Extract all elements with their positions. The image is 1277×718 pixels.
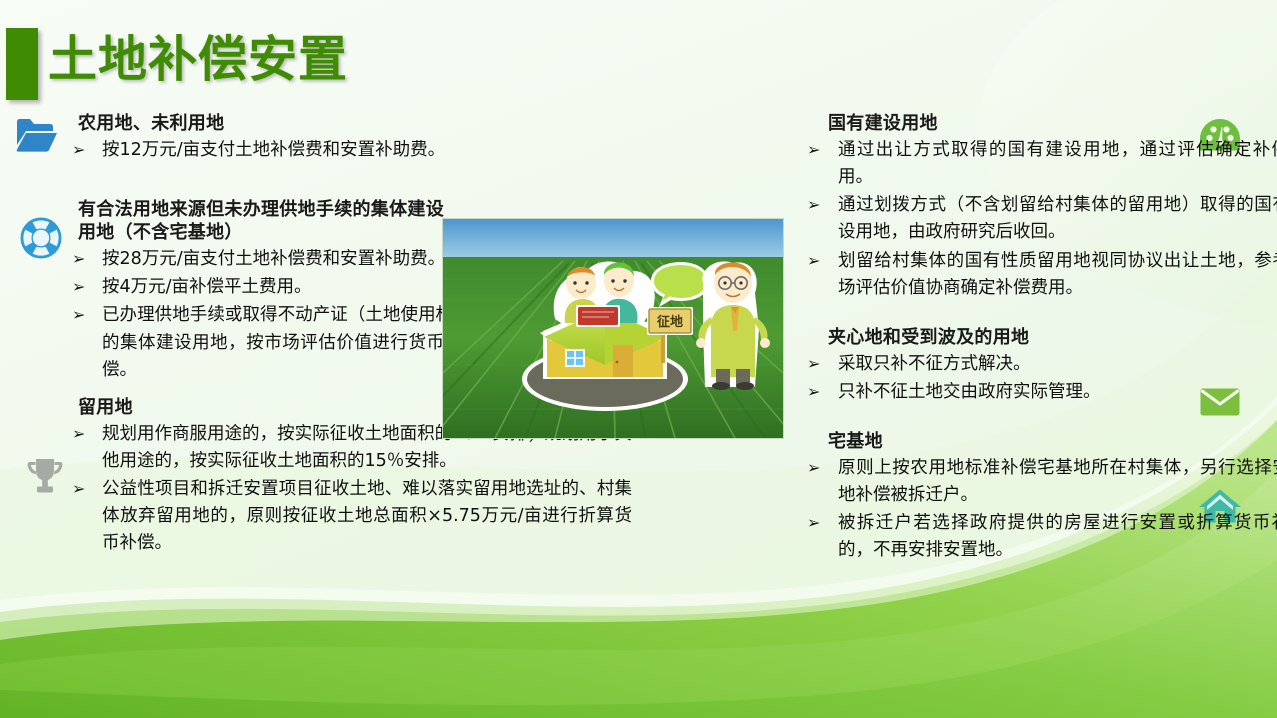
bullet-item: ➢ 按4万元/亩补偿平土费用。 bbox=[14, 274, 462, 301]
bullet-arrow-icon: ➢ bbox=[72, 138, 85, 163]
bullet-list: ➢ 采取只补不征方式解决。 ➢ 只补不征土地交由政府实际管理。 bbox=[795, 351, 1265, 406]
bullet-item: ➢ 公益性项目和拆迁安置项目征收土地、难以落实留用地选址的、村集体放弃留用地的，… bbox=[14, 476, 632, 557]
bullet-text: 已办理供地手续或取得不动产证（土地使用权）的集体建设用地，按市场评估价值进行货币… bbox=[102, 302, 462, 383]
bullet-arrow-icon: ➢ bbox=[807, 511, 820, 536]
block-enclave-land: 夹心地和受到波及的用地 ➢ 采取只补不征方式解决。 ➢ 只补不征土地交由政府实际… bbox=[795, 326, 1265, 406]
bullet-arrow-icon: ➢ bbox=[72, 247, 85, 272]
bullet-item: ➢ 按12万元/亩支付土地补偿费和安置补助费。 bbox=[14, 137, 632, 164]
bullet-text: 通过出让方式取得的国有建设用地，通过评估确定补偿费用。 bbox=[838, 137, 1277, 191]
bullet-arrow-icon: ➢ bbox=[72, 303, 85, 328]
block-reserved-land: 留用地 ➢ 规划用作商服用途的，按实际征收土地面积的10％安排；规划用于其他用途… bbox=[14, 396, 484, 558]
block-agricultural-land: 农用地、未利用地 ➢ 按12万元/亩支付土地补偿费和安置补助费。 bbox=[14, 112, 484, 164]
bullet-item: ➢ 按28万元/亩支付土地补偿费和安置补助费。 bbox=[14, 246, 462, 273]
svg-text:征地: 征地 bbox=[657, 314, 683, 330]
bullet-arrow-icon: ➢ bbox=[807, 352, 820, 377]
bullet-text: 通过划拨方式（不含划留给村集体的留用地）取得的国有建设用地，由政府研究后收回。 bbox=[838, 192, 1277, 246]
block-collective-construction-land: 有合法用地来源但未办理供地手续的集体建设用地（不含宅基地） ➢ 按28万元/亩支… bbox=[14, 198, 484, 384]
bullet-item: ➢ 原则上按农用地标准补偿宅基地所在村集体，另行选择安置地补偿被拆迁户。 bbox=[795, 455, 1277, 509]
bullet-item: ➢ 已办理供地手续或取得不动产证（土地使用权）的集体建设用地，按市场评估价值进行… bbox=[14, 302, 462, 383]
slide-canvas: 土地补偿安置 bbox=[0, 0, 1277, 718]
bullet-arrow-icon: ➢ bbox=[807, 193, 820, 218]
bullet-item: ➢ 划留给村集体的国有性质留用地视同协议出让土地，参考市场评估价值协商确定补偿费… bbox=[795, 248, 1277, 302]
block-heading: 宅基地 bbox=[795, 430, 1265, 453]
bullet-text: 按28万元/亩支付土地补偿费和安置补助费。 bbox=[102, 246, 462, 273]
page-title: 土地补偿安置 bbox=[48, 29, 348, 90]
block-heading: 留用地 bbox=[14, 396, 484, 419]
bullet-item: ➢ 采取只补不征方式解决。 bbox=[795, 351, 1277, 378]
block-state-owned-land: 国有建设用地 ➢ 通过出让方式取得的国有建设用地，通过评估确定补偿费用。 ➢ 通… bbox=[795, 112, 1265, 302]
bullet-item: ➢ 通过出让方式取得的国有建设用地，通过评估确定补偿费用。 bbox=[795, 137, 1277, 191]
block-heading: 农用地、未利用地 bbox=[14, 112, 484, 135]
bullet-list: ➢ 通过出让方式取得的国有建设用地，通过评估确定补偿费用。 ➢ 通过划拨方式（不… bbox=[795, 137, 1265, 302]
bullet-text: 原则上按农用地标准补偿宅基地所在村集体，另行选择安置地补偿被拆迁户。 bbox=[838, 455, 1277, 509]
bullet-list: ➢ 按12万元/亩支付土地补偿费和安置补助费。 bbox=[14, 137, 484, 164]
bullet-list: ➢ 按28万元/亩支付土地补偿费和安置补助费。 ➢ 按4万元/亩补偿平土费用。 … bbox=[14, 246, 484, 384]
bullet-arrow-icon: ➢ bbox=[72, 477, 85, 502]
title-accent-bar bbox=[6, 28, 38, 100]
block-homestead-land: 宅基地 ➢ 原则上按农用地标准补偿宅基地所在村集体，另行选择安置地补偿被拆迁户。… bbox=[795, 430, 1265, 565]
bullet-text: 公益性项目和拆迁安置项目征收土地、难以落实留用地选址的、村集体放弃留用地的，原则… bbox=[102, 476, 632, 557]
bullet-text: 只补不征土地交由政府实际管理。 bbox=[838, 379, 1277, 406]
bullet-arrow-icon: ➢ bbox=[807, 249, 820, 274]
bullet-item: ➢ 只补不征土地交由政府实际管理。 bbox=[795, 379, 1277, 406]
bullet-arrow-icon: ➢ bbox=[807, 456, 820, 481]
block-heading: 夹心地和受到波及的用地 bbox=[795, 326, 1265, 349]
bullet-text: 按4万元/亩补偿平土费用。 bbox=[102, 274, 462, 301]
land-requisition-illustration: 征地 bbox=[442, 218, 784, 439]
left-column: 农用地、未利用地 ➢ 按12万元/亩支付土地补偿费和安置补助费。 有合法用地来源… bbox=[14, 112, 484, 558]
block-heading: 国有建设用地 bbox=[795, 112, 1265, 135]
bullet-arrow-icon: ➢ bbox=[72, 422, 85, 447]
bullet-item: ➢ 被拆迁户若选择政府提供的房屋进行安置或折算货币补偿的，不再安排安置地。 bbox=[795, 510, 1277, 564]
bullet-arrow-icon: ➢ bbox=[72, 275, 85, 300]
bullet-list: ➢ 原则上按农用地标准补偿宅基地所在村集体，另行选择安置地补偿被拆迁户。 ➢ 被… bbox=[795, 455, 1265, 565]
bullet-text: 被拆迁户若选择政府提供的房屋进行安置或折算货币补偿的，不再安排安置地。 bbox=[838, 510, 1277, 564]
bullet-text: 划留给村集体的国有性质留用地视同协议出让土地，参考市场评估价值协商确定补偿费用。 bbox=[838, 248, 1277, 302]
bullet-text: 按12万元/亩支付土地补偿费和安置补助费。 bbox=[102, 137, 632, 164]
bullet-item: ➢ 通过划拨方式（不含划留给村集体的留用地）取得的国有建设用地，由政府研究后收回… bbox=[795, 192, 1277, 246]
right-column: 国有建设用地 ➢ 通过出让方式取得的国有建设用地，通过评估确定补偿费用。 ➢ 通… bbox=[795, 112, 1265, 565]
bullet-list: ➢ 规划用作商服用途的，按实际征收土地面积的10％安排；规划用于其他用途的，按实… bbox=[14, 421, 484, 558]
bullet-text: 采取只补不征方式解决。 bbox=[838, 351, 1277, 378]
block-heading: 有合法用地来源但未办理供地手续的集体建设用地（不含宅基地） bbox=[14, 198, 448, 244]
bullet-arrow-icon: ➢ bbox=[807, 380, 820, 405]
bullet-arrow-icon: ➢ bbox=[807, 138, 820, 163]
